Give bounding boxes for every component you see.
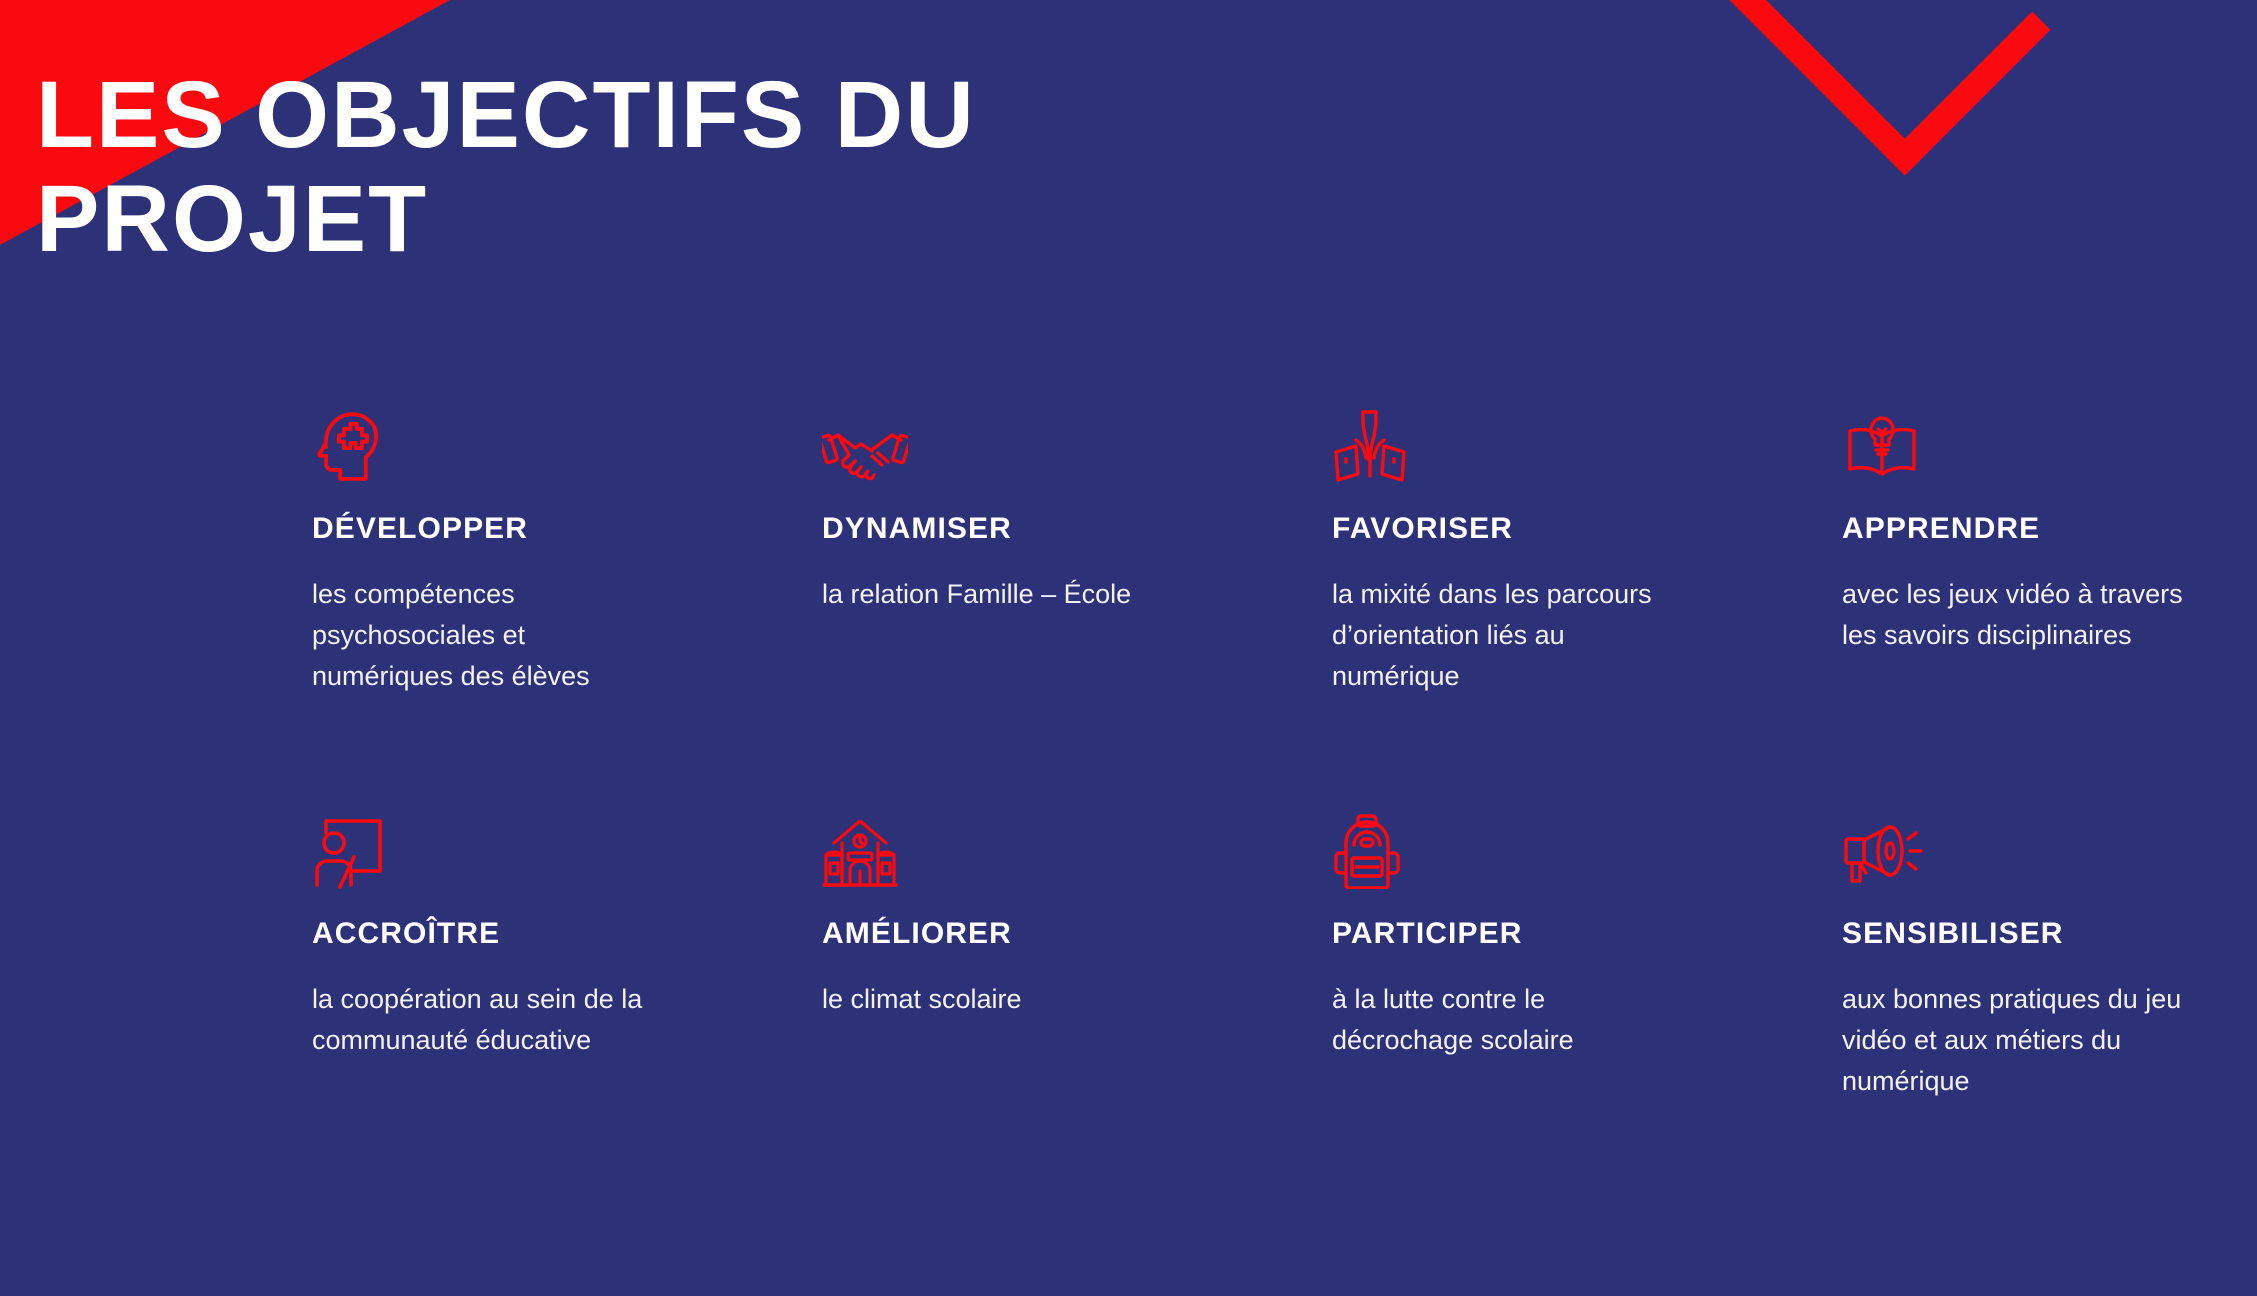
objective-title: PARTICIPER [1332,917,1732,951]
objective-card-ameliorer: AMÉLIORER le climat scolaire [822,793,1222,1102]
objective-description: à la lutte contre le décrochage scolaire [1332,979,1692,1061]
handshake-icon [822,388,1222,484]
book-lightbulb-icon [1842,388,2242,484]
objective-title: SENSIBILISER [1842,917,2242,951]
objective-description: aux bonnes pratiques du jeu vidéo et aux… [1842,979,2202,1102]
person-presentation-check-icon [312,793,712,889]
objective-description: les compétences psychosociales et numéri… [312,574,672,697]
objective-card-favoriser: FAVORISER la mixité dans les parcours d’… [1332,388,1732,697]
objective-card-dynamiser: DYNAMISER la relation Famille – École [822,388,1222,697]
objective-card-sensibiliser: SENSIBILISER aux bonnes pratiques du jeu… [1842,793,2242,1102]
objective-card-accroitre: ACCROÎTRE la coopération au sein de la c… [312,793,712,1102]
objective-title: APPRENDRE [1842,512,2242,546]
objective-title: AMÉLIORER [822,917,1222,951]
objectives-grid: DÉVELOPPER les compétences psychosociale… [312,388,2257,1102]
objective-description: la coopération au sein de la communauté … [312,979,672,1061]
objective-title: DÉVELOPPER [312,512,712,546]
objective-title: DYNAMISER [822,512,1222,546]
page-title-line-1: LES OBJECTIFS DU [36,64,1336,168]
megaphone-icon [1842,793,2242,889]
objective-card-participer: PARTICIPER à la lutte contre le décrocha… [1332,793,1732,1102]
objective-title: ACCROÎTRE [312,917,712,951]
objective-description: la mixité dans les parcours d’orientatio… [1332,574,1692,697]
school-building-icon [822,793,1222,889]
backpack-icon [1332,793,1732,889]
page-title-line-2: PROJET [36,168,1336,272]
red-chevron-down-icon [1729,0,2050,176]
page-title: LES OBJECTIFS DU PROJET [36,64,1336,271]
objective-description: la relation Famille – École [822,574,1182,615]
head-puzzle-icon [312,388,712,484]
objective-description: le climat scolaire [822,979,1182,1020]
objective-title: FAVORISER [1332,512,1732,546]
objective-description: avec les jeux vidéo à travers les savoir… [1842,574,2202,656]
converging-paths-icon [1332,388,1732,484]
objective-card-developper: DÉVELOPPER les compétences psychosociale… [312,388,712,697]
objective-card-apprendre: APPRENDRE avec les jeux vidéo à travers … [1842,388,2242,697]
